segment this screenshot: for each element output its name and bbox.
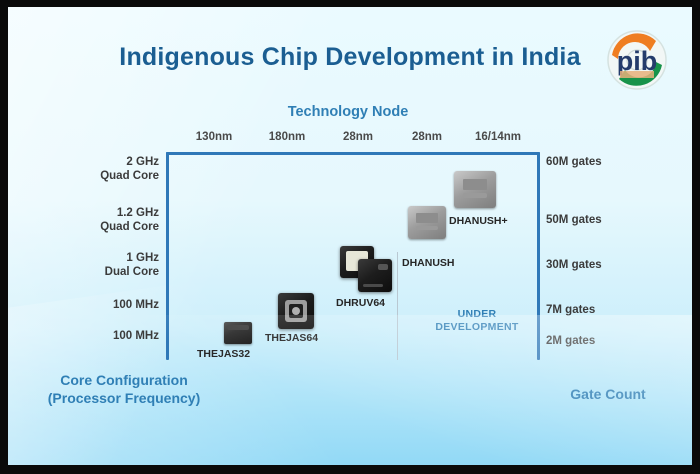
core-config-100mhz-a: 100 MHz xyxy=(113,299,159,313)
chip-dhanush xyxy=(408,206,446,239)
node-tick-130nm: 130nm xyxy=(196,131,232,143)
under-development-note: UNDER DEVELOPMENT xyxy=(422,308,532,334)
core-configuration-caption: Core Configuration (Processor Frequency) xyxy=(24,371,224,407)
core-config-1ghz-dual: 1 GHz Dual Core xyxy=(105,252,159,279)
gate-count-caption: Gate Count xyxy=(528,386,688,402)
chip-label-dhanush-plus: DHANUSH+ xyxy=(449,215,508,227)
core-config-100mhz-b: 100 MHz xyxy=(113,330,159,344)
gate-count-7m: 7M gates xyxy=(546,304,595,318)
chart-axis-right xyxy=(537,152,540,360)
node-tick-180nm: 180nm xyxy=(269,131,305,143)
chip-label-dhanush: DHANUSH xyxy=(402,257,455,269)
chip-label-thejas32: THEJAS32 xyxy=(197,348,250,360)
chip-dhanush-plus xyxy=(454,171,496,208)
pib-logo: pib xyxy=(606,29,668,91)
chart-axis-top xyxy=(166,152,540,155)
slide-canvas: Indigenous Chip Development in India pib… xyxy=(8,7,692,465)
core-config-1-2ghz-quad: 1.2 GHz Quad Core xyxy=(100,207,159,234)
slide-frame: Indigenous Chip Development in India pib… xyxy=(0,0,700,474)
chip-thejas64 xyxy=(278,293,314,329)
node-tick-16-14nm: 16/14nm xyxy=(475,131,521,143)
gate-count-axis: 60M gates 50M gates 30M gates 7M gates 2… xyxy=(546,152,666,360)
chart-axis-left xyxy=(166,152,169,360)
chip-label-thejas64: THEJAS64 xyxy=(265,332,318,344)
node-tick-28nm-a: 28nm xyxy=(343,131,373,143)
gate-count-2m: 2M gates xyxy=(546,335,595,349)
under-development-divider xyxy=(397,252,398,360)
node-tick-28nm-b: 28nm xyxy=(412,131,442,143)
chip-dhruv64-front xyxy=(358,259,392,292)
gate-count-30m: 30M gates xyxy=(546,259,602,273)
gate-count-60m: 60M gates xyxy=(546,156,602,170)
core-configuration-axis: 2 GHz Quad Core 1.2 GHz Quad Core 1 GHz … xyxy=(54,152,159,360)
page-title: Indigenous Chip Development in India xyxy=(8,43,692,72)
gate-count-50m: 50M gates xyxy=(546,214,602,228)
technology-node-title: Technology Node xyxy=(183,104,513,120)
core-config-2ghz-quad: 2 GHz Quad Core xyxy=(100,156,159,183)
technology-node-ticks: 130nm 180nm 28nm 28nm 16/14nm xyxy=(168,131,538,149)
chip-label-dhruv64: DHRUV64 xyxy=(336,297,385,309)
chip-thejas32 xyxy=(224,322,252,344)
